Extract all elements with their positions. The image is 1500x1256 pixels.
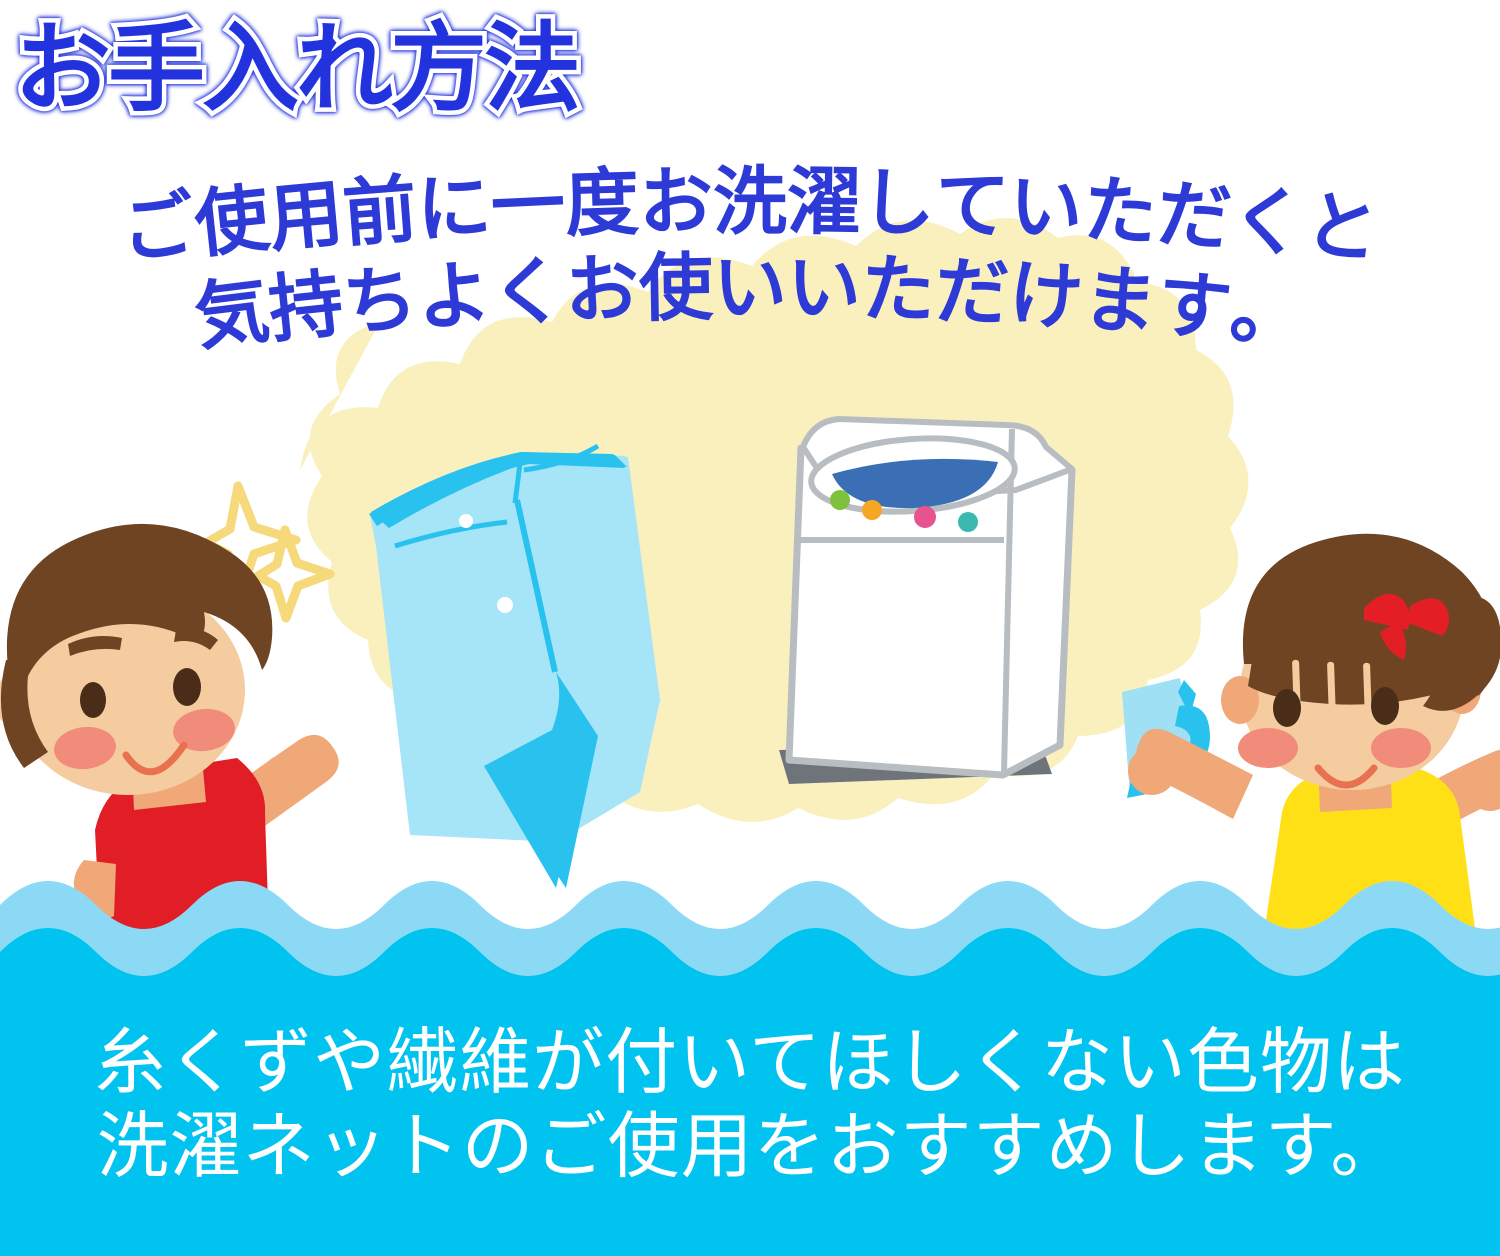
page-title-text: お手入れ方法 xyxy=(14,10,634,128)
machine-button-pink xyxy=(914,506,936,528)
shirt-button xyxy=(497,597,513,613)
page-title: お手入れ方法 xyxy=(14,10,634,135)
top-load-washing-machine xyxy=(779,419,1072,784)
machine-button-teal xyxy=(958,512,978,532)
blue-dress-shirt xyxy=(369,446,660,888)
machine-button-green xyxy=(830,490,850,510)
promo-banner-root: お手入れ方法 ご使用前に一度お洗濯していただくと 気持ちよくお使いいただけます。… xyxy=(0,0,1500,1256)
machine-button-orange xyxy=(862,500,882,520)
bottom-banner xyxy=(0,978,1500,1256)
shirt-button xyxy=(459,514,473,528)
